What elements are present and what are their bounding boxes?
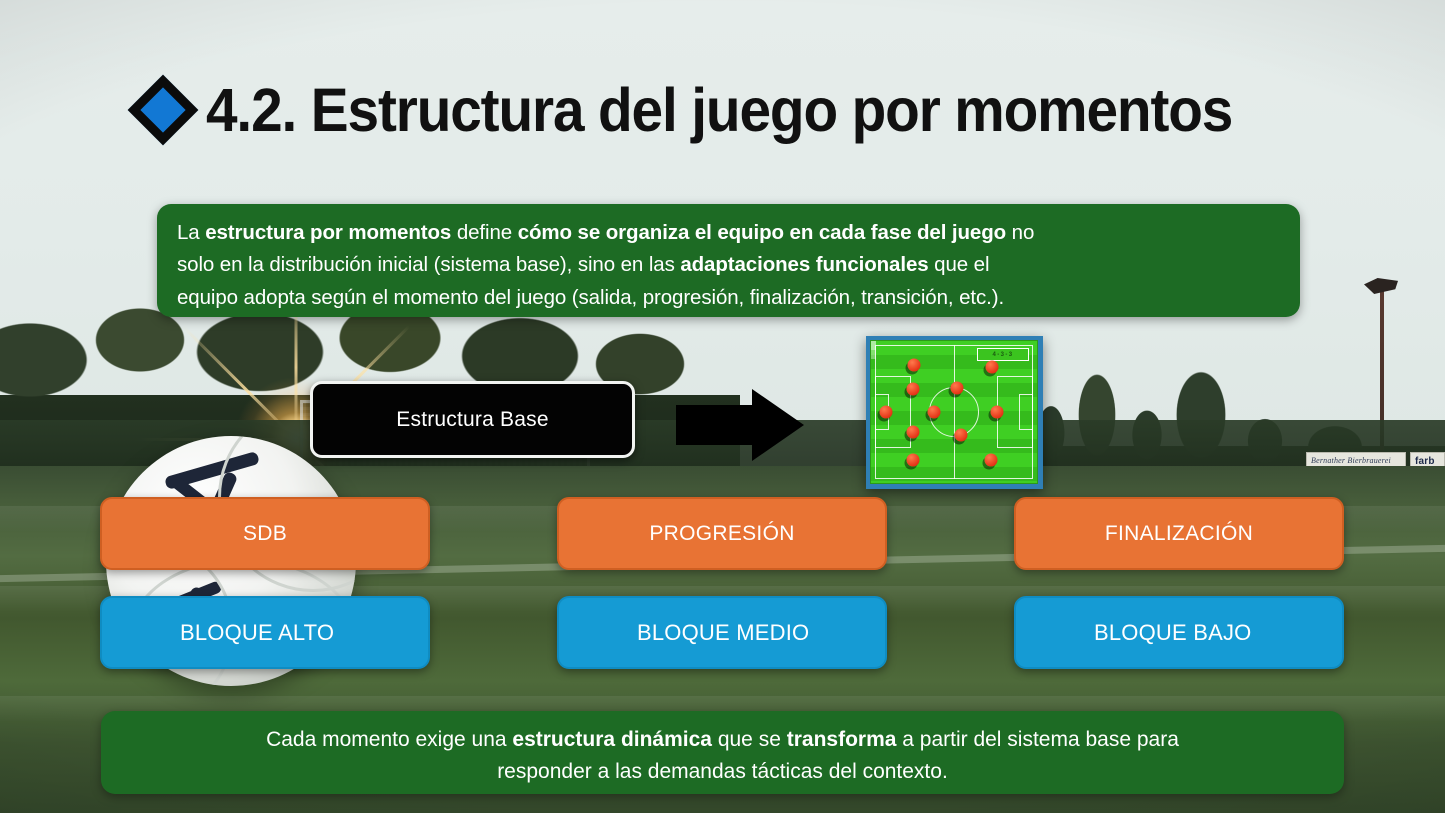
intro-callout-line-3: equipo adopta según el momento del juego… [177,282,1274,314]
blue-diamond-icon [128,75,199,146]
intro-text-1c: define [451,221,517,244]
moment-button-sdb-label: SDB [243,522,287,546]
slide-header: 4.2. Estructura del juego por momentos [138,78,1309,142]
block-button-medio-label: BLOQUE MEDIO [637,620,809,646]
pitch-player-marker [908,359,921,372]
summary-callout-line-2: responder a las demandas tácticas del co… [101,756,1344,788]
pitch-player-marker [984,454,997,467]
intro-callout-line-2: solo en la distribución inicial (sistema… [177,249,1274,281]
moment-button-finalizacion[interactable]: FINALIZACIÓN [1014,497,1344,570]
intro-text-3a: equipo adopta según el momento del juego… [177,286,1004,309]
intro-text-1d: cómo se organiza el equipo en cada fase … [518,221,1006,244]
intro-text-1a: La [177,221,205,244]
pitch-player-marker [986,360,999,373]
summary-callout-box: Cada momento exige una estructura dinámi… [101,711,1344,794]
block-button-bajo[interactable]: BLOQUE BAJO [1014,596,1344,669]
right-arrow-icon [676,389,804,461]
moment-button-finalizacion-label: FINALIZACIÓN [1105,522,1253,546]
formation-badge: 4-3-3 [977,348,1029,361]
intro-text-2b: adaptaciones funcionales [680,253,928,276]
pitch-graphic: 4-3-3 [870,340,1038,484]
summary-text-1b: estructura dinámica [512,728,712,751]
block-button-alto-label: BLOQUE ALTO [180,620,334,646]
estructura-base-box[interactable]: Estructura Base [310,381,635,458]
intro-callout-box: La estructura por momentos define cómo s… [157,204,1300,317]
pitch-player-marker [879,406,892,419]
pitch-six-yard-box-right [1019,394,1033,430]
intro-text-2a: solo en la distribución inicial (sistema… [177,253,680,276]
estructura-base-label: Estructura Base [396,408,548,432]
block-button-alto[interactable]: BLOQUE ALTO [100,596,430,669]
intro-text-2c: que el [929,253,990,276]
moment-button-sdb[interactable]: SDB [100,497,430,570]
moment-button-progresion-label: PROGRESIÓN [649,522,794,546]
slide-canvas: Bernather Bierbrauerei farb 4.2. Estruct… [0,0,1445,813]
intro-text-1e: no [1006,221,1034,244]
pitch-player-marker [906,425,919,438]
tactics-pitch-thumbnail[interactable]: 4-3-3 [866,336,1043,489]
summary-text-1d: transforma [787,728,897,751]
pitch-player-marker [906,383,919,396]
pitch-player-marker [906,454,919,467]
summary-text-2a: responder a las demandas tácticas del co… [497,760,948,783]
moment-button-progresion[interactable]: PROGRESIÓN [557,497,887,570]
pitch-player-marker [991,406,1004,419]
block-button-medio[interactable]: BLOQUE MEDIO [557,596,887,669]
pitch-player-marker [951,381,964,394]
summary-callout-line-1: Cada momento exige una estructura dinámi… [101,724,1344,756]
pitch-player-marker [954,428,967,441]
page-title: 4.2. Estructura del juego por momentos [206,78,1232,142]
pitch-player-marker [928,406,941,419]
summary-text-1c: que se [712,728,787,751]
summary-text-1a: Cada momento exige una [266,728,512,751]
block-button-bajo-label: BLOQUE BAJO [1094,620,1251,646]
summary-text-1e: a partir del sistema base para [896,728,1178,751]
intro-callout-line-1: La estructura por momentos define cómo s… [177,217,1274,249]
intro-text-1b: estructura por momentos [205,221,451,244]
